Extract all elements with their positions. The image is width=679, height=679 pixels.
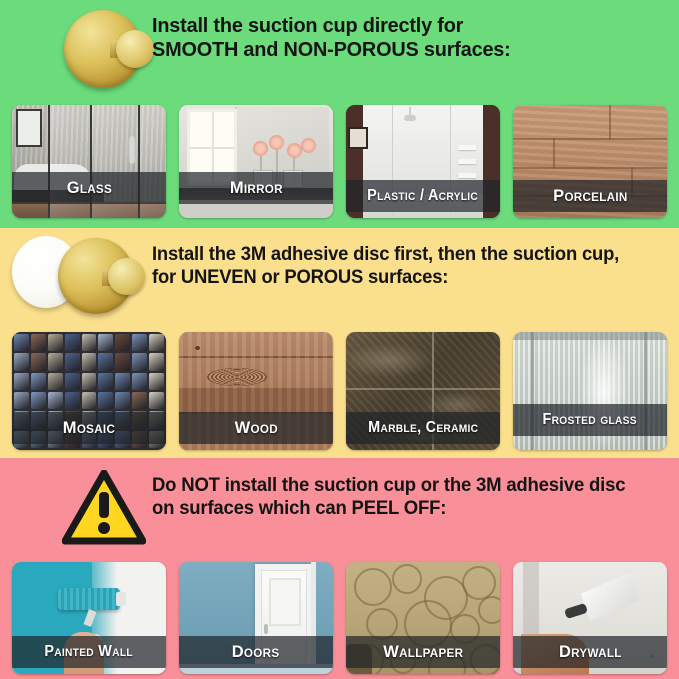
tile-caption: Wood <box>179 412 333 444</box>
tile-caption: Painted Wall <box>12 636 166 668</box>
gold-suction-cup-hook-icon <box>0 0 150 100</box>
tile-label: Porcelain <box>553 186 627 206</box>
tile-caption: Drywall <box>513 636 667 668</box>
tile-caption: Plastic / Acrylic <box>346 180 500 212</box>
tile-doors[interactable]: Doors <box>179 562 333 674</box>
tile-caption: Mosaic <box>12 412 166 444</box>
warning-triangle-icon <box>0 458 150 558</box>
tile-label: Drywall <box>559 642 622 662</box>
tile-marble-ceramic[interactable]: Marble, Ceramic <box>346 332 500 450</box>
tile-row-uneven: Mosaic Wood <box>12 332 667 450</box>
tile-caption: Porcelain <box>513 180 667 212</box>
tile-caption: Doors <box>179 636 333 668</box>
tile-label: Frosted glass <box>543 411 637 429</box>
tile-label: Painted Wall <box>45 643 134 661</box>
tile-label: Plastic / Acrylic <box>368 187 479 205</box>
tile-caption: Wallpaper <box>346 636 500 668</box>
section-avoid-heading: Do NOT install the suction cup or the 3M… <box>152 474 625 520</box>
tile-caption: Frosted glass <box>513 404 667 436</box>
section-smooth-header: Install the suction cup directly for SMO… <box>0 0 679 100</box>
tile-mosaic[interactable]: Mosaic <box>12 332 166 450</box>
tile-caption: Glass <box>12 172 166 204</box>
tile-label: Marble, Ceramic <box>368 419 478 437</box>
tile-caption: Mirror <box>179 172 333 204</box>
infographic-sheet: Install the suction cup directly for SMO… <box>0 0 679 679</box>
tile-label: Wood <box>234 418 277 438</box>
tile-label: Doors <box>232 642 280 662</box>
section-uneven-surfaces: Install the 3M adhesive disc first, then… <box>0 228 679 458</box>
tile-row-avoid: Painted Wall Doors Wallpaper <box>12 562 667 674</box>
tile-label: Glass <box>66 178 111 198</box>
section-avoid-surfaces: Do NOT install the suction cup or the 3M… <box>0 458 679 679</box>
tile-caption: Marble, Ceramic <box>346 412 500 444</box>
section-avoid-header: Do NOT install the suction cup or the 3M… <box>0 458 679 558</box>
tile-plastic-acrylic[interactable]: Plastic / Acrylic <box>346 105 500 218</box>
section-smooth-surfaces: Install the suction cup directly for SMO… <box>0 0 679 228</box>
tile-drywall[interactable]: Drywall <box>513 562 667 674</box>
tile-painted-wall[interactable]: Painted Wall <box>12 562 166 674</box>
tile-label: Mosaic <box>63 418 115 438</box>
section-smooth-heading: Install the suction cup directly for SMO… <box>152 14 511 62</box>
tile-label: Mirror <box>229 178 282 198</box>
tile-mirror[interactable]: Mirror <box>179 105 333 218</box>
adhesive-disc-with-hook-icon <box>0 228 150 328</box>
tile-label: Wallpaper <box>383 642 463 662</box>
tile-glass[interactable]: Glass <box>12 105 166 218</box>
tile-porcelain[interactable]: Porcelain <box>513 105 667 218</box>
tile-row-smooth: Glass Mirror <box>12 105 667 218</box>
tile-frosted-glass[interactable]: Frosted glass <box>513 332 667 450</box>
tile-wallpaper[interactable]: Wallpaper <box>346 562 500 674</box>
section-uneven-heading: Install the 3M adhesive disc first, then… <box>152 244 619 289</box>
section-uneven-header: Install the 3M adhesive disc first, then… <box>0 228 679 328</box>
tile-wood[interactable]: Wood <box>179 332 333 450</box>
